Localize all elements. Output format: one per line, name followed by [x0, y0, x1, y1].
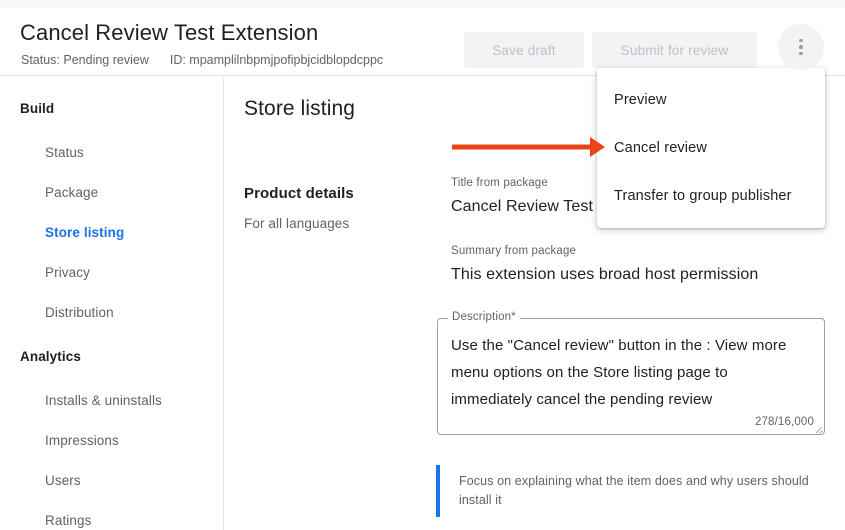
sidebar-item-package[interactable]: Package — [0, 172, 223, 212]
sidebar-item-distribution[interactable]: Distribution — [0, 292, 223, 332]
sidebar: Build Status Package Store listing Priva… — [0, 77, 224, 530]
sidebar-item-status[interactable]: Status — [0, 132, 223, 172]
more-dot-1 — [799, 39, 803, 43]
header-meta: Status: Pending reviewID: mpamplilnbpmjp… — [21, 52, 383, 68]
sidebar-group-analytics: Analytics — [0, 340, 223, 372]
description-hint-text: Focus on explaining what the item does a… — [459, 472, 831, 510]
sidebar-item-users[interactable]: Users — [0, 460, 223, 500]
sidebar-spacer-3 — [0, 372, 223, 380]
description-field[interactable]: Description* Use the "Cancel review" but… — [437, 318, 825, 435]
summary-from-package-field: Summary from package This extension uses… — [451, 243, 758, 286]
resize-handle-icon[interactable] — [814, 424, 823, 433]
more-options-menu: Preview Cancel review Transfer to group … — [597, 68, 825, 228]
status-text: Status: Pending review — [21, 53, 149, 67]
sidebar-item-impressions[interactable]: Impressions — [0, 420, 223, 460]
sidebar-group-build: Build — [0, 92, 223, 124]
more-dot-2 — [799, 45, 803, 49]
summary-from-package-label: Summary from package — [451, 243, 758, 259]
product-details-heading: Product details — [244, 185, 354, 202]
page-title: Cancel Review Test Extension — [20, 19, 318, 47]
description-char-counter: 278/16,000 — [755, 416, 814, 428]
save-draft-label: Save draft — [492, 43, 556, 58]
sidebar-item-ratings[interactable]: Ratings — [0, 500, 223, 530]
app-root: Cancel Review Test Extension Status: Pen… — [0, 0, 845, 530]
menu-item-cancel-review[interactable]: Cancel review — [597, 124, 825, 172]
description-hint: Focus on explaining what the item does a… — [436, 465, 831, 517]
sidebar-spacer-1 — [0, 124, 223, 132]
extension-id-text: ID: mpamplilnbpmjpofipbjcidblopdcppc — [170, 53, 383, 67]
save-draft-button[interactable]: Save draft — [464, 32, 584, 68]
sidebar-spacer-2 — [0, 332, 223, 340]
sidebar-item-store-listing[interactable]: Store listing — [0, 212, 223, 252]
sidebar-item-installs-uninstalls[interactable]: Installs & uninstalls — [0, 380, 223, 420]
more-dot-3 — [799, 52, 803, 56]
window-top-strip — [0, 0, 845, 8]
description-label: Description* — [448, 310, 520, 324]
submit-for-review-label: Submit for review — [621, 43, 729, 58]
menu-item-transfer-to-group-publisher[interactable]: Transfer to group publisher — [597, 172, 825, 220]
page-header: Cancel Review Test Extension Status: Pen… — [0, 8, 845, 76]
summary-from-package-value: This extension uses broad host permissio… — [451, 264, 758, 286]
sidebar-item-privacy[interactable]: Privacy — [0, 252, 223, 292]
store-listing-heading: Store listing — [244, 95, 355, 123]
more-vert-icon[interactable] — [778, 24, 824, 70]
description-textarea[interactable]: Use the "Cancel review" button in the : … — [451, 332, 811, 413]
submit-for-review-button[interactable]: Submit for review — [592, 32, 757, 68]
product-details-subtitle: For all languages — [244, 216, 349, 231]
menu-item-preview[interactable]: Preview — [597, 76, 825, 124]
